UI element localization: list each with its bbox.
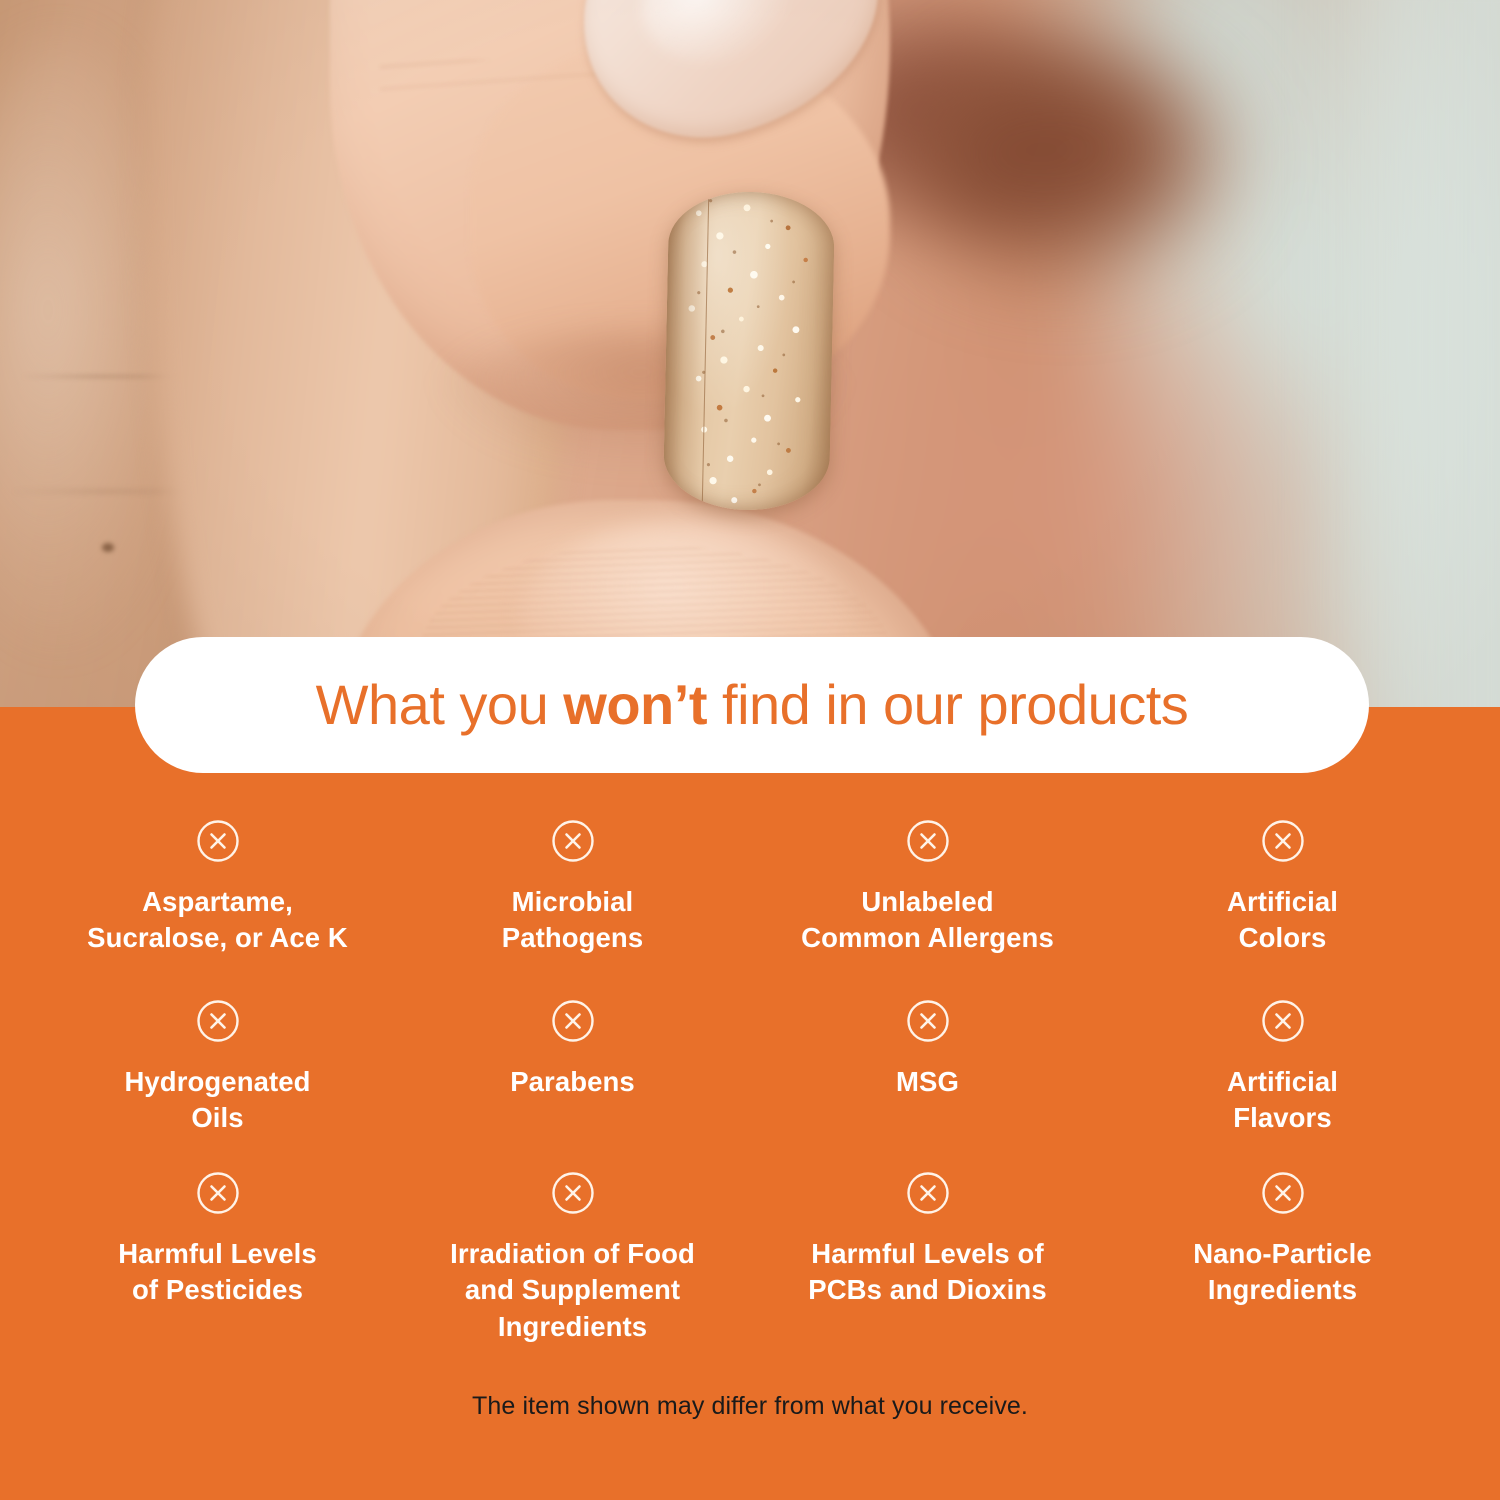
circle-x-icon	[905, 818, 951, 864]
title-card: What you won’t find in our products	[135, 637, 1369, 773]
grid-item-label: Unlabeled Common Allergens	[801, 884, 1054, 957]
product-infographic: What you won’t find in our products Aspa…	[0, 0, 1500, 1500]
grid-item: Artificial Colors	[1105, 818, 1460, 998]
product-photo	[0, 0, 1500, 710]
grid-item: Parabens	[395, 998, 750, 1170]
page-title: What you won’t find in our products	[316, 677, 1189, 733]
grid-item: Microbial Pathogens	[395, 818, 750, 998]
thumb-skin-creases	[380, 60, 610, 190]
photo-background-dark-blob	[905, 40, 1235, 280]
circle-x-icon	[905, 1170, 951, 1216]
circle-x-icon	[905, 998, 951, 1044]
grid-item-label: Artificial Colors	[1227, 884, 1338, 957]
circle-x-icon	[195, 818, 241, 864]
circle-x-icon	[1260, 1170, 1306, 1216]
circle-x-icon	[195, 1170, 241, 1216]
circle-x-icon	[1260, 998, 1306, 1044]
grid-item: Irradiation of Food and Supplement Ingre…	[395, 1170, 750, 1370]
grid-item-label: Irradiation of Food and Supplement Ingre…	[450, 1236, 695, 1345]
grid-item-label: Artificial Flavors	[1227, 1064, 1338, 1137]
supplement-tablet	[663, 190, 836, 511]
grid-item: Harmful Levels of Pesticides	[40, 1170, 395, 1370]
grid-item: Hydrogenated Oils	[40, 998, 395, 1170]
grid-item: Artificial Flavors	[1105, 998, 1460, 1170]
grid-item-label: Aspartame, Sucralose, or Ace K	[87, 884, 348, 957]
grid-item: Nano-Particle Ingredients	[1105, 1170, 1460, 1370]
circle-x-icon	[195, 998, 241, 1044]
circle-x-icon	[550, 998, 596, 1044]
grid-item-label: Harmful Levels of Pesticides	[118, 1236, 317, 1309]
circle-x-icon	[550, 1170, 596, 1216]
photo-background-mint-strip	[1310, 0, 1500, 710]
grid-item-label: MSG	[896, 1064, 959, 1100]
grid-item: Harmful Levels of PCBs and Dioxins	[750, 1170, 1105, 1370]
grid-item-label: Harmful Levels of PCBs and Dioxins	[808, 1236, 1046, 1309]
title-emphasis: won’t	[563, 673, 707, 736]
grid-item: MSG	[750, 998, 1105, 1170]
circle-x-icon	[550, 818, 596, 864]
grid-item-label: Parabens	[510, 1064, 635, 1100]
grid-item-label: Hydrogenated Oils	[124, 1064, 310, 1137]
blurred-left-finger-mole	[102, 543, 114, 552]
disclaimer-text: The item shown may differ from what you …	[0, 1392, 1500, 1421]
grid-item: Unlabeled Common Allergens	[750, 818, 1105, 998]
grid-item: Aspartame, Sucralose, or Ace K	[40, 818, 395, 998]
title-prefix: What you	[316, 673, 564, 736]
title-suffix: find in our products	[707, 673, 1188, 736]
grid-item-label: Nano-Particle Ingredients	[1193, 1236, 1372, 1309]
excluded-ingredients-grid: Aspartame, Sucralose, or Ace K Microbial…	[40, 818, 1460, 1370]
circle-x-icon	[1260, 818, 1306, 864]
tablet-rim-shading	[663, 190, 836, 511]
grid-item-label: Microbial Pathogens	[502, 884, 643, 957]
